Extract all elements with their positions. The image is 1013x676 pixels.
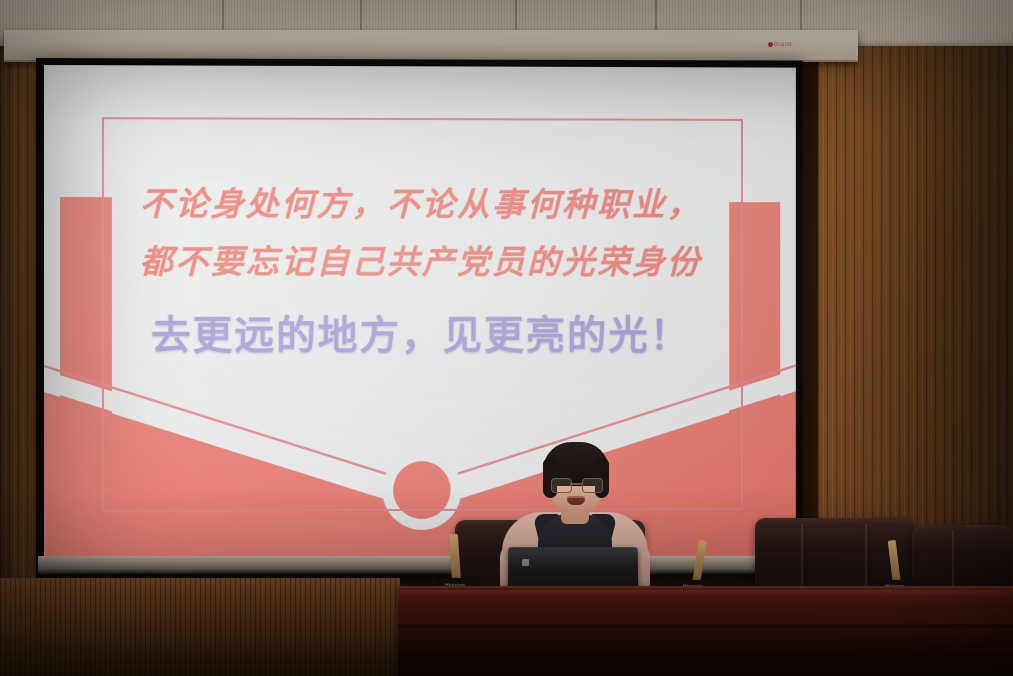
chair-seam (801, 524, 803, 592)
stage-front-panel (0, 578, 400, 676)
slide-body-line-2: 都不要忘记自己共产党员的光荣身份 (44, 235, 796, 283)
projection-screen: 不论身处何方，不论从事何种职业， 都不要忘记自己共产党员的光荣身份 去更远的地方… (36, 58, 803, 578)
slide-body-line-1: 不论身处何方，不论从事何种职业， (44, 177, 796, 226)
projection-screen-bottom-bar (38, 556, 808, 574)
chair-seam (952, 531, 954, 592)
glasses-lens-left (551, 478, 572, 493)
housing-brand-dot-icon (768, 42, 773, 47)
housing-brand-label: Brand (774, 42, 826, 50)
projection-screen-housing[interactable]: Brand (4, 30, 858, 62)
slide-headline: 去更远的地方，见更亮的光！ (44, 303, 796, 361)
laptop-logo-icon (522, 559, 529, 566)
presentation-photo-scene: Brand (0, 0, 1013, 676)
desk-front-shadow (398, 628, 1013, 676)
slide-text-block: 不论身处何方，不论从事何种职业， 都不要忘记自己共产党员的光荣身份 去更远的地方… (44, 65, 796, 559)
slide-surface: 不论身处何方，不论从事何种职业， 都不要忘记自己共产党员的光荣身份 去更远的地方… (44, 65, 796, 559)
glasses-lens-right (582, 478, 603, 493)
chair-seam (865, 524, 867, 592)
glasses-bridge (570, 483, 582, 485)
speaker-mouth (567, 496, 585, 505)
